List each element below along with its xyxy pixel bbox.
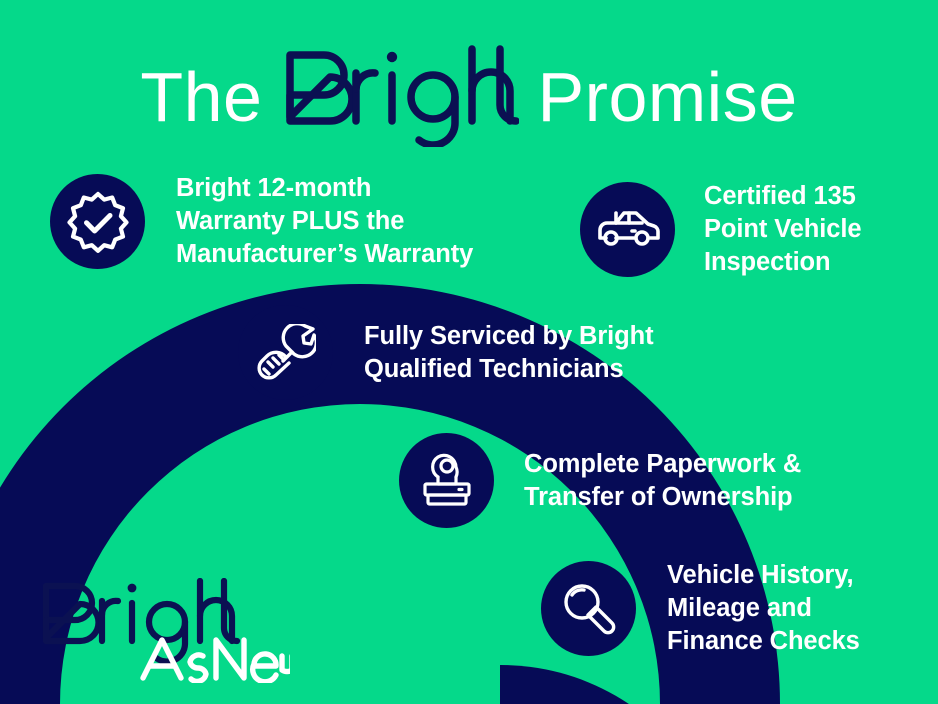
verified-badge-check-icon	[67, 191, 129, 253]
rubber-stamp-icon	[421, 451, 473, 511]
feature-item-paperwork: Complete Paperwork & Transfer of Ownersh…	[399, 433, 801, 528]
feature-icon-badge	[238, 305, 333, 400]
page-title-trail: Promise	[537, 62, 797, 132]
magnifying-glass-icon	[560, 580, 618, 638]
feature-item-checks: Vehicle History, Mileage and Finance Che…	[541, 559, 860, 658]
feature-label: Complete Paperwork & Transfer of Ownersh…	[524, 448, 801, 514]
car-side-icon	[596, 206, 660, 254]
feature-item-warranty: Bright 12-month Warranty PLUS the Manufa…	[50, 172, 473, 271]
bright-wordmark-title	[282, 43, 519, 152]
feature-icon-badge	[399, 433, 494, 528]
logo-i-dot	[128, 584, 137, 593]
promise-graphic: The	[0, 0, 938, 704]
feature-icon-badge	[50, 174, 145, 269]
feature-item-servicing: Fully Serviced by Bright Qualified Techn…	[238, 305, 654, 400]
page-title-lead: The	[140, 62, 262, 132]
feature-label: Certified 135 Point Vehicle Inspection	[704, 180, 861, 279]
feature-icon-badge	[541, 561, 636, 656]
feature-label: Vehicle History, Mileage and Finance Che…	[667, 559, 860, 658]
hand-wrench-icon	[256, 324, 316, 382]
logo-bright-wordmark	[46, 581, 237, 662]
brand-logo	[40, 578, 290, 683]
navy-arc-small	[500, 665, 700, 704]
feature-label: Fully Serviced by Bright Qualified Techn…	[364, 320, 654, 386]
feature-item-inspection: Certified 135 Point Vehicle Inspection	[580, 180, 861, 279]
feature-label: Bright 12-month Warranty PLUS the Manufa…	[176, 172, 473, 271]
page-title: The	[0, 44, 938, 150]
feature-icon-badge	[580, 182, 675, 277]
